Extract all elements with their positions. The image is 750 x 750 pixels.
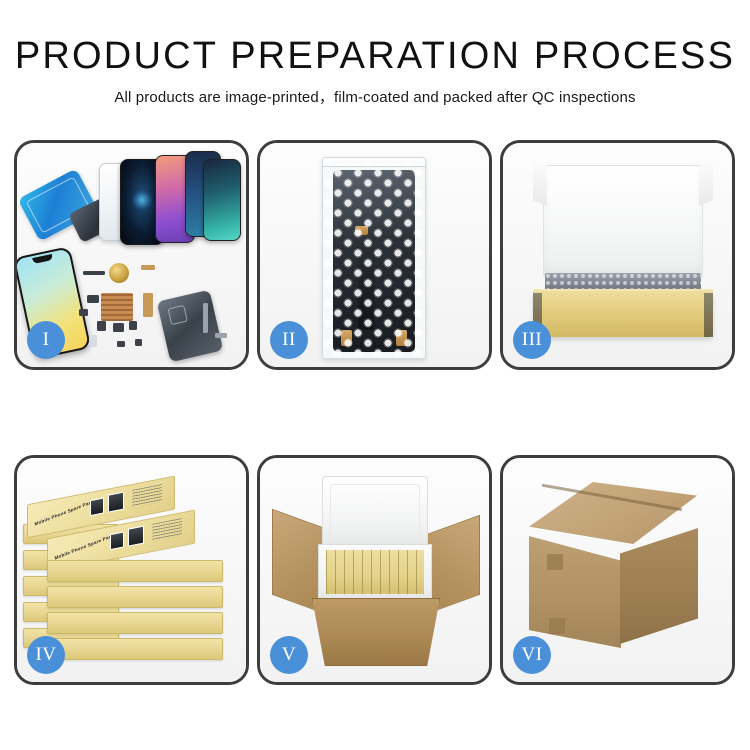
step-badge-3: III: [513, 321, 551, 359]
step-badge-4: IV: [27, 636, 65, 674]
small-part-g: [135, 339, 142, 346]
carton-body: [312, 598, 440, 666]
box-text-lines-1: [132, 484, 162, 508]
phone-display-teal: [203, 159, 241, 241]
page-subtitle: All products are image-printed，film-coat…: [0, 86, 750, 107]
step-badge-2: II: [270, 321, 308, 359]
small-part-f: [89, 335, 97, 347]
step-badge-5: V: [270, 636, 308, 674]
small-part-d: [113, 323, 124, 332]
stacked-box-f1: [47, 560, 223, 582]
box-art-swatch-1a: [90, 497, 104, 516]
box-art-swatch-1b: [108, 492, 124, 513]
step-badge-1: I: [27, 321, 65, 359]
foam-box-lid: [322, 476, 428, 548]
box-flap-right: [699, 160, 713, 206]
small-part-h: [117, 341, 125, 347]
box-art-swatch-2b: [128, 526, 144, 547]
stacked-box-f3: [47, 612, 223, 634]
carton-side-face: [620, 528, 698, 644]
carton-top-face: [529, 482, 697, 544]
small-part-e: [129, 321, 137, 330]
page-title: PRODUCT PREPARATION PROCESS: [0, 36, 750, 77]
box-flap-left: [533, 160, 547, 206]
box-text-lines-2: [152, 518, 182, 542]
flex-cable-b: [143, 293, 153, 317]
step-badge-6: VI: [513, 636, 551, 674]
box-label-1: Mobile Phone Spare Parts: [34, 498, 95, 526]
stacked-box-f2: [47, 586, 223, 608]
flex-cable-a: [141, 265, 155, 270]
carton-front-face: [529, 536, 621, 648]
tweezers-tool: [215, 333, 227, 338]
bubble-wrap-bag: [322, 157, 426, 359]
phone-back-cover: [157, 290, 224, 363]
stacked-box-f4: [47, 638, 223, 660]
logic-board-component: [101, 293, 133, 321]
box-art-swatch-2a: [110, 531, 124, 550]
bag-seal: [323, 158, 425, 167]
process-step-1: I: [14, 140, 249, 370]
small-part-b: [79, 309, 88, 316]
product-preparation-infographic: PRODUCT PREPARATION PROCESS All products…: [0, 0, 750, 750]
bubble-texture: [323, 158, 425, 358]
process-step-4: Mobile Phone Spare Parts Mobile Phone Sp…: [14, 455, 249, 685]
white-foam-lid: [543, 165, 703, 277]
process-step-3: III: [500, 140, 735, 370]
part-strip: [83, 271, 105, 275]
yellow-boxes-inside: [326, 550, 424, 594]
process-step-6: VI: [500, 455, 735, 685]
carton-tape-lower: [549, 618, 565, 634]
yellow-box-tray: [533, 293, 713, 337]
small-part-a: [87, 295, 99, 303]
speaker-component: [109, 263, 129, 283]
small-part-c: [97, 321, 106, 331]
process-step-grid: I II: [14, 140, 736, 685]
header: PRODUCT PREPARATION PROCESS All products…: [0, 0, 750, 107]
box-label-2: Mobile Phone Spare Parts: [54, 532, 115, 560]
process-step-5: V: [257, 455, 492, 685]
carton-tape-upper: [547, 554, 563, 570]
screwdriver-tool: [203, 303, 208, 333]
process-step-2: II: [257, 140, 492, 370]
